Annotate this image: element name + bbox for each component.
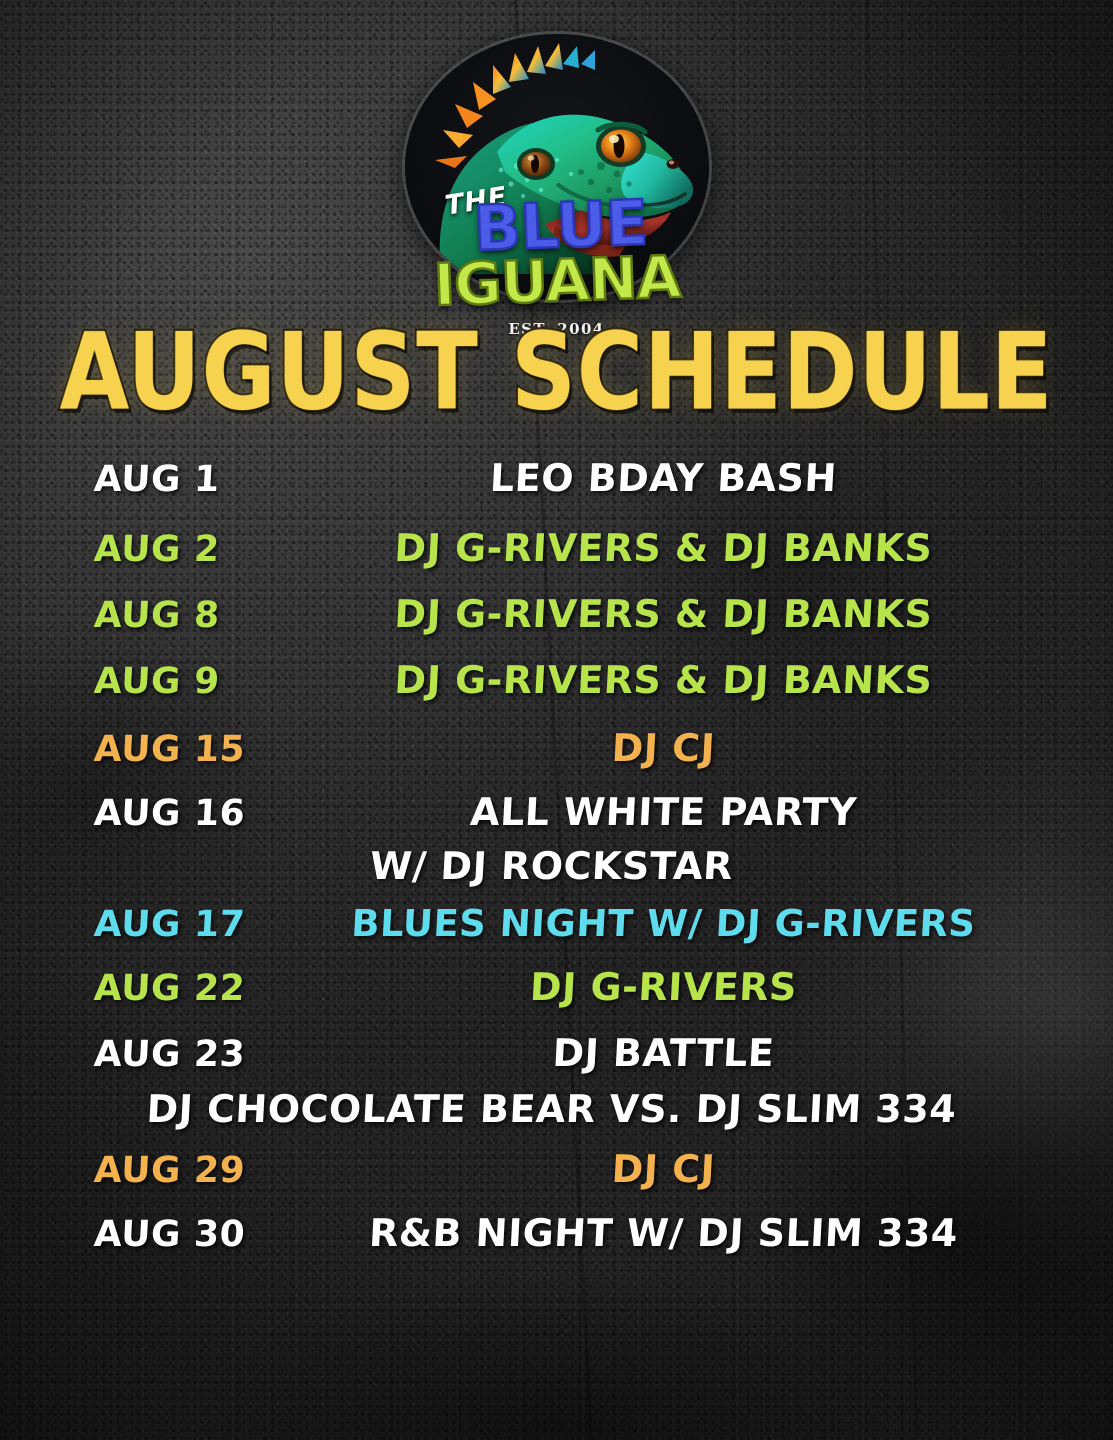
schedule-date: AUG 30 [25, 1214, 277, 1255]
schedule-row: AUG 29DJ CJ [26, 1147, 1087, 1191]
schedule-event: R&B NIGHT W/ DJ SLIM 334 [275, 1211, 1088, 1255]
schedule-event: LEO BDAY BASH [275, 456, 1088, 500]
schedule-event: DJ G-RIVERS [275, 965, 1088, 1009]
schedule-list: AUG 1LEO BDAY BASHAUG 2DJ G-RIVERS & DJ … [0, 456, 1113, 1271]
schedule-row: AUG 8DJ G-RIVERS & DJ BANKS [26, 592, 1087, 636]
schedule-date: AUG 29 [25, 1150, 277, 1191]
schedule-event: DJ BATTLE [275, 1031, 1088, 1075]
logo-iguana-text: IGUANA [432, 243, 681, 320]
schedule-event: BLUES NIGHT W/ DJ G-RIVERS [275, 902, 1088, 945]
schedule-date: AUG 9 [25, 661, 277, 702]
schedule-row: AUG 9DJ G-RIVERS & DJ BANKS [26, 658, 1087, 702]
schedule-event: ALL WHITE PARTY [275, 790, 1088, 834]
schedule-date: AUG 15 [25, 729, 277, 770]
schedule-date: AUG 16 [25, 793, 277, 834]
schedule-date: AUG 1 [25, 459, 277, 500]
schedule-row: AUG 17BLUES NIGHT W/ DJ G-RIVERS [26, 902, 1087, 945]
schedule-row: AUG 30R&B NIGHT W/ DJ SLIM 334 [26, 1211, 1087, 1255]
schedule-date: AUG 2 [25, 529, 277, 570]
schedule-event: DJ G-RIVERS & DJ BANKS [275, 526, 1088, 570]
schedule-event-subline: DJ CHOCOLATE BEAR VS. DJ SLIM 334 [25, 1087, 1088, 1131]
schedule-row: AUG 16ALL WHITE PARTY [26, 790, 1087, 834]
brand-logo: THE BLUE IGUANA EST. 2004 [401, 34, 713, 306]
schedule-date: AUG 8 [25, 595, 277, 636]
schedule-row: AUG 22DJ G-RIVERS [26, 965, 1087, 1009]
schedule-row: AUG 1LEO BDAY BASH [26, 456, 1087, 500]
schedule-row: AUG 15DJ CJ [26, 726, 1087, 770]
schedule-date: AUG 17 [25, 904, 277, 945]
schedule-date: AUG 22 [25, 968, 277, 1009]
page-title: AUGUST SCHEDULE [0, 320, 1113, 426]
schedule-event: DJ G-RIVERS & DJ BANKS [275, 658, 1088, 702]
schedule-event: DJ CJ [275, 1147, 1088, 1191]
schedule-event: DJ CJ [275, 726, 1088, 770]
flyer-poster: THE BLUE IGUANA EST. 2004 AUGUST SCHEDUL… [0, 0, 1113, 1440]
schedule-row: AUG 23DJ BATTLE [26, 1031, 1087, 1075]
schedule-event: DJ G-RIVERS & DJ BANKS [275, 592, 1088, 636]
schedule-date: AUG 23 [25, 1034, 277, 1075]
schedule-event-subline: W/ DJ ROCKSTAR [25, 844, 1088, 888]
schedule-row: AUG 2DJ G-RIVERS & DJ BANKS [26, 526, 1087, 570]
